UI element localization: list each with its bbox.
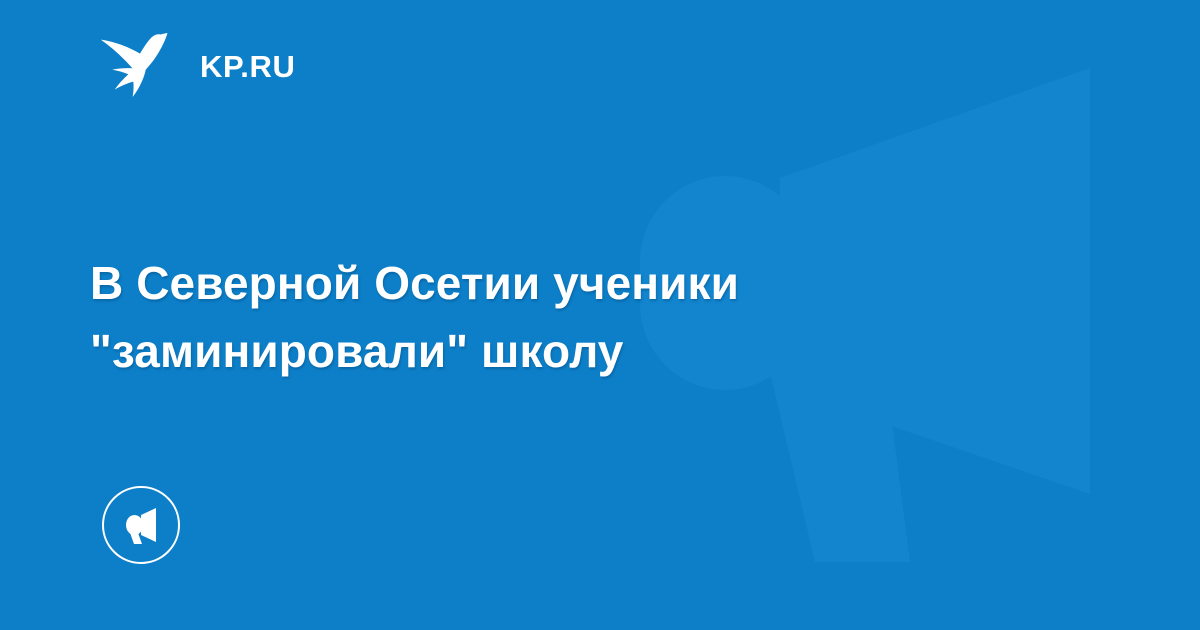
headline-line-2: "заминировали" школу bbox=[90, 317, 990, 385]
headline-line-1: В Северной Осетии ученики bbox=[90, 249, 990, 317]
headline: В Северной Осетии ученики "заминировали"… bbox=[90, 249, 990, 385]
brand-lockup[interactable]: KP.RU bbox=[100, 34, 295, 98]
megaphone-icon bbox=[120, 504, 162, 546]
kp-swallow-bird-logo-icon bbox=[100, 33, 178, 99]
brand-name: KP.RU bbox=[200, 51, 295, 82]
social-share-card: KP.RU В Северной Осетии ученики "заминир… bbox=[0, 0, 1200, 630]
megaphone-badge[interactable] bbox=[102, 486, 180, 564]
